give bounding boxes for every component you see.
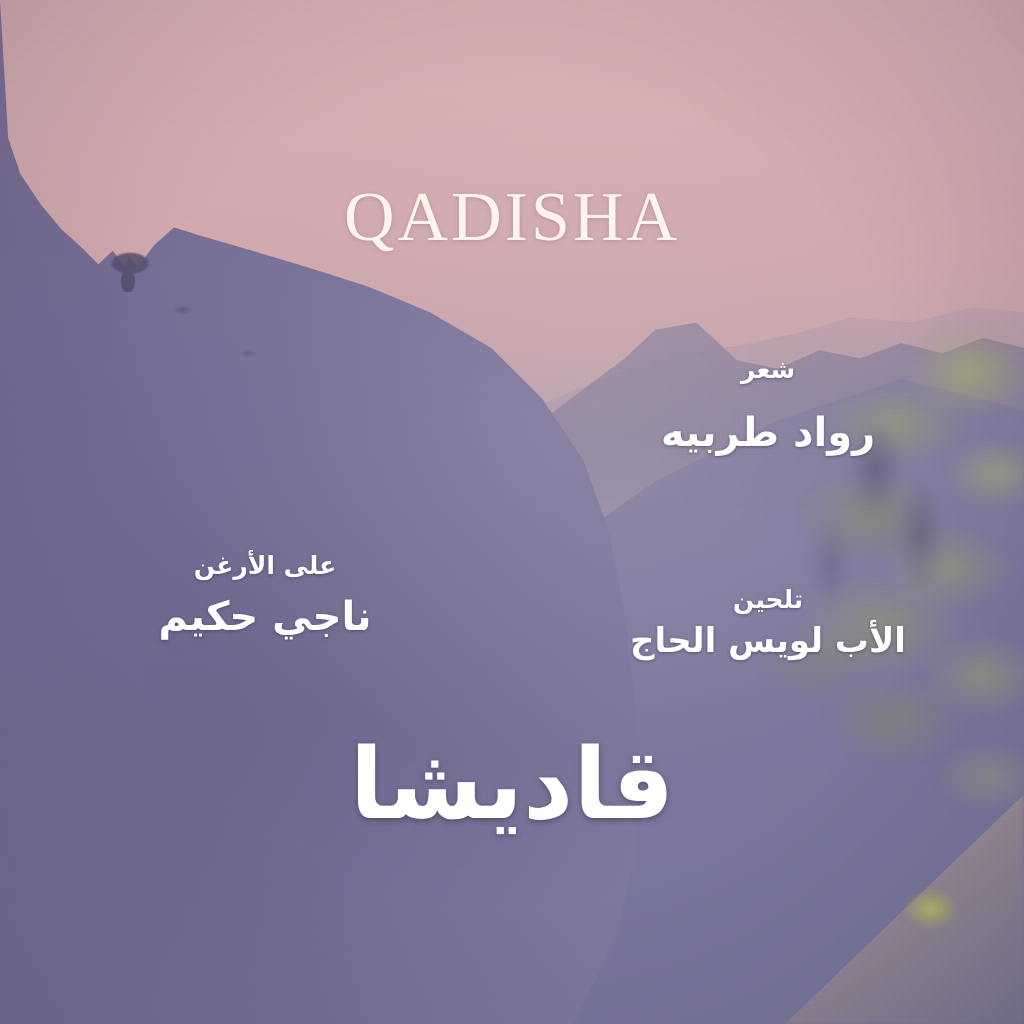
- credit-lyrics-role: شعر: [608, 356, 928, 384]
- credit-composition-name: الأب لويس الحاج: [598, 622, 938, 661]
- credit-organ-name: ناجي حكيم: [120, 594, 410, 640]
- album-cover: QADISHA شعر رواد طربيه تلحين الأب لويس ا…: [0, 0, 1024, 1024]
- credit-organ: على الأرغن ناجي حكيم: [120, 552, 410, 640]
- credit-composition: تلحين الأب لويس الحاج: [598, 586, 938, 661]
- latin-album-title: QADISHA: [0, 183, 1024, 253]
- credit-lyrics: شعر رواد طربيه: [608, 356, 928, 456]
- vignette-overlay: [0, 0, 1024, 1024]
- arabic-album-title: قاديشا: [0, 736, 1024, 834]
- credit-lyrics-name: رواد طربيه: [608, 410, 928, 456]
- credit-composition-role: تلحين: [598, 586, 938, 614]
- credit-organ-role: على الأرغن: [120, 552, 410, 580]
